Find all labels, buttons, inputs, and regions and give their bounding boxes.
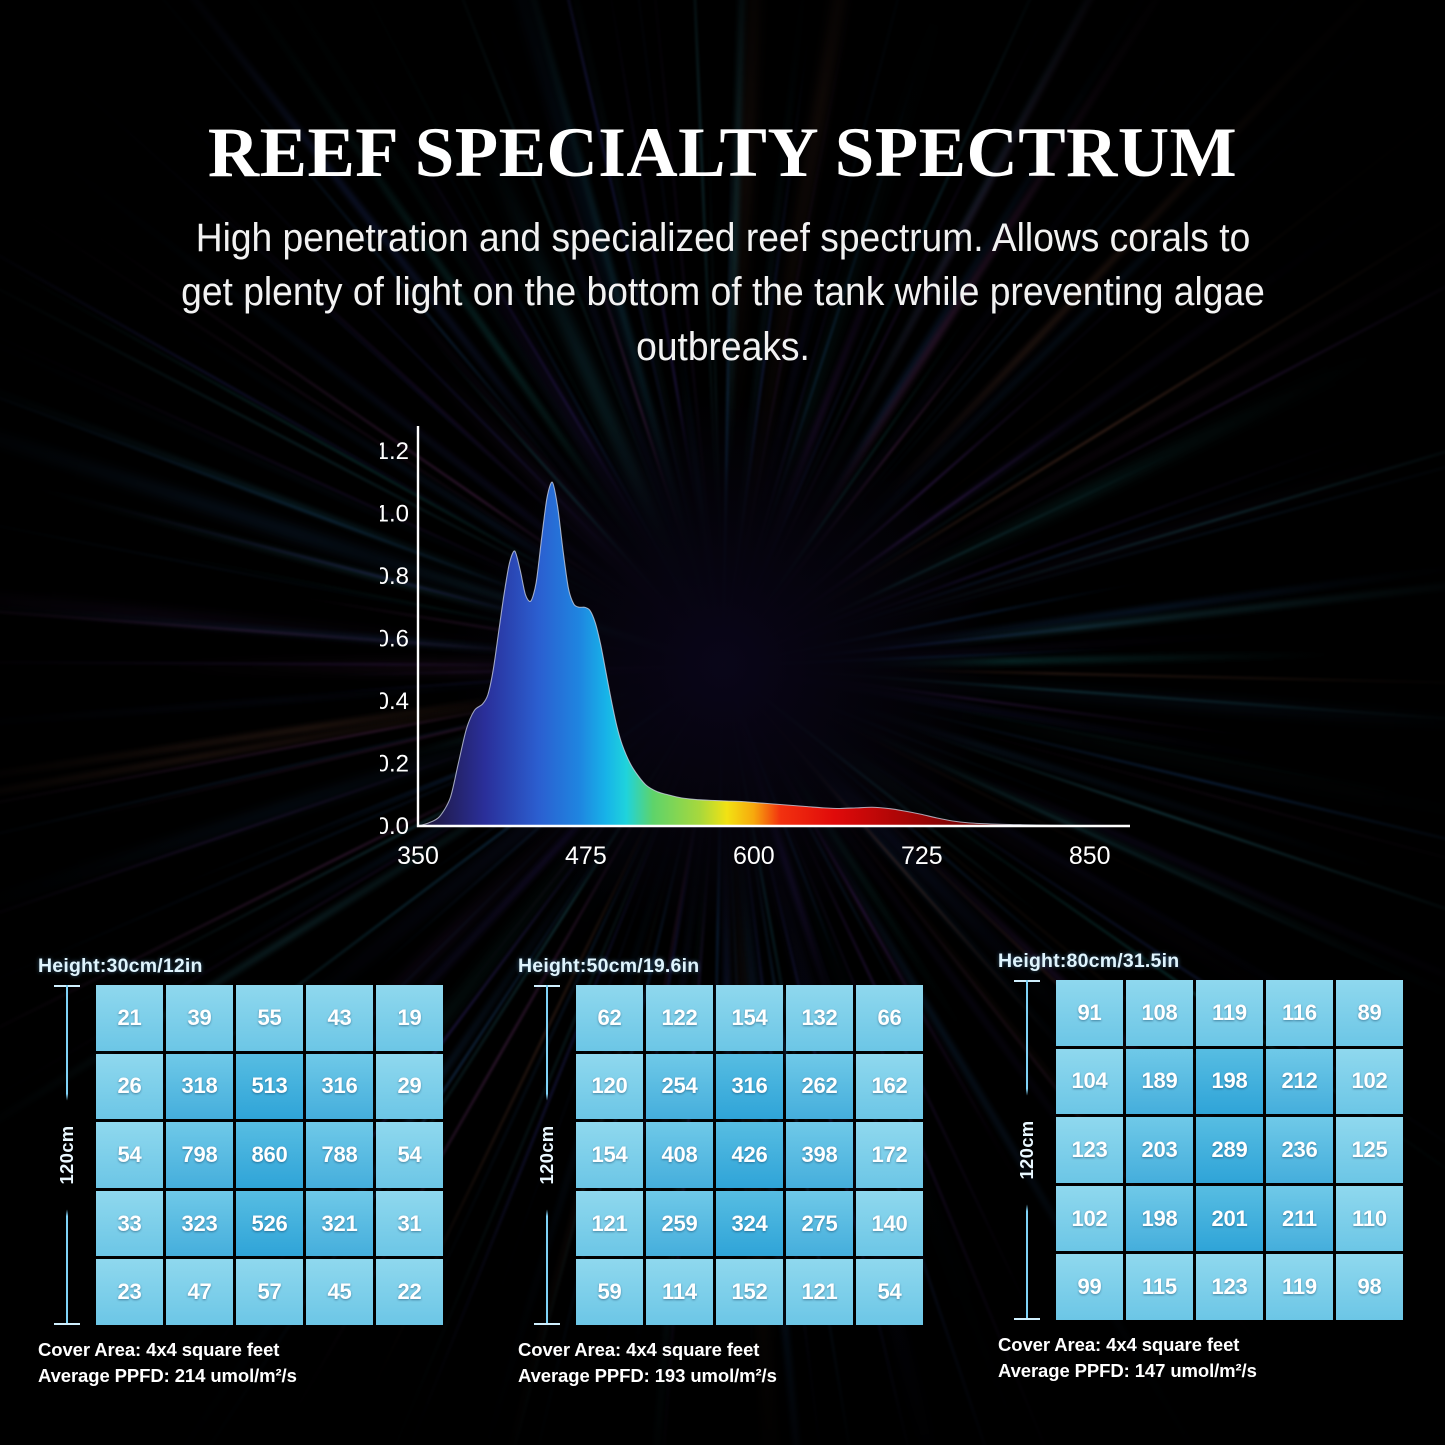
panel-height-label: Height:80cm/31.5in [998,950,1403,973]
ppfd-cell: 140 [856,1191,923,1257]
ppfd-cell: 316 [306,1054,373,1120]
ppfd-cell: 55 [236,985,303,1051]
spectrum-chart: 3504756007258500.00.20.40.60.81.01.2 [380,418,1140,883]
average-ppfd-text: Average PPFD: 147 umol/m²/s [998,1358,1403,1384]
ppfd-cell: 102 [1336,1049,1403,1115]
ppfd-cell: 31 [376,1191,443,1257]
ppfd-cell: 236 [1266,1117,1333,1183]
ppfd-cell: 172 [856,1122,923,1188]
ppfd-cell: 254 [646,1054,713,1120]
panel-body: 120cm21395543192631851331629547988607885… [38,985,443,1325]
dimension-label: 120cm [536,1125,558,1184]
ppfd-cell: 120 [576,1054,643,1120]
y-axis-tick-label: 0.8 [380,563,409,590]
ppfd-cell: 102 [1056,1186,1123,1252]
page-subtitle: High penetration and specialized reef sp… [178,211,1266,374]
ppfd-cell: 29 [376,1054,443,1120]
cover-area-text: Cover Area: 4x4 square feet [38,1337,443,1363]
ppfd-cell: 43 [306,985,373,1051]
ppfd-grid: 2139554319263185133162954798860788543332… [96,985,443,1325]
ppfd-cell: 212 [1266,1049,1333,1115]
ppfd-cell: 114 [646,1259,713,1325]
ppfd-cell: 33 [96,1191,163,1257]
ppfd-cell: 66 [856,985,923,1051]
ppfd-cell: 54 [96,1122,163,1188]
ppfd-cell: 110 [1336,1186,1403,1252]
ppfd-cell: 321 [306,1191,373,1257]
ppfd-cell: 275 [786,1191,853,1257]
x-axis-tick-label: 350 [397,842,439,870]
ppfd-cell: 119 [1266,1254,1333,1320]
ppfd-cell: 788 [306,1122,373,1188]
ppfd-cell: 125 [1336,1117,1403,1183]
ppfd-cell: 26 [96,1054,163,1120]
dimension-cap-bottom [54,1323,80,1325]
ppfd-cell: 121 [786,1259,853,1325]
ppfd-cell: 54 [376,1122,443,1188]
ppfd-grid: 9110811911689104189198212102123203289236… [1056,980,1403,1320]
panel-footer: Cover Area: 4x4 square feetAverage PPFD:… [998,1332,1403,1385]
ppfd-cell: 513 [236,1054,303,1120]
dimension-indicator: 120cm [998,980,1056,1320]
ppfd-cell: 162 [856,1054,923,1120]
ppfd-cell: 91 [1056,980,1123,1046]
ppfd-cell: 54 [856,1259,923,1325]
ppfd-cell: 316 [716,1054,783,1120]
ppfd-cell: 198 [1196,1049,1263,1115]
dimension-cap-bottom [534,1323,560,1325]
ppfd-cell: 324 [716,1191,783,1257]
panel-footer: Cover Area: 4x4 square feetAverage PPFD:… [518,1337,923,1390]
ppfd-cell: 289 [1196,1117,1263,1183]
ppfd-cell: 98 [1336,1254,1403,1320]
ppfd-cell: 47 [166,1259,233,1325]
ppfd-cell: 198 [1126,1186,1193,1252]
ppfd-cell: 132 [786,985,853,1051]
ppfd-cell: 426 [716,1122,783,1188]
ppfd-cell: 860 [236,1122,303,1188]
ppfd-panel: Height:80cm/31.5in120cm91108119116891041… [998,950,1403,1385]
ppfd-cell: 408 [646,1122,713,1188]
ppfd-cell: 57 [236,1259,303,1325]
plot-area [418,482,1130,826]
ppfd-cell: 259 [646,1191,713,1257]
ppfd-panel: Height:30cm/12in120cm2139554319263185133… [38,955,443,1390]
ppfd-cell: 62 [576,985,643,1051]
ppfd-cell: 108 [1126,980,1193,1046]
y-axis-tick-label: 1.0 [380,501,409,528]
ppfd-cell: 22 [376,1259,443,1325]
ppfd-cell: 59 [576,1259,643,1325]
x-axis-tick-label: 850 [1069,842,1111,870]
x-axis-tick-label: 600 [733,842,775,870]
ppfd-cell: 104 [1056,1049,1123,1115]
ppfd-cell: 154 [576,1122,643,1188]
cover-area-text: Cover Area: 4x4 square feet [998,1332,1403,1358]
panel-height-label: Height:50cm/19.6in [518,955,923,978]
ppfd-cell: 123 [1056,1117,1123,1183]
ppfd-cell: 201 [1196,1186,1263,1252]
dimension-indicator: 120cm [518,985,576,1325]
ppfd-cell: 89 [1336,980,1403,1046]
x-axis-tick-label: 475 [565,842,607,870]
x-axis-labels: 350475600725850 [397,842,1110,870]
y-axis-tick-label: 1.2 [380,438,409,465]
ppfd-cell: 23 [96,1259,163,1325]
ppfd-cell: 123 [1196,1254,1263,1320]
dimension-label: 120cm [1016,1120,1038,1179]
panel-footer: Cover Area: 4x4 square feetAverage PPFD:… [38,1337,443,1390]
ppfd-cell: 152 [716,1259,783,1325]
ppfd-cell: 154 [716,985,783,1051]
average-ppfd-text: Average PPFD: 214 umol/m²/s [38,1363,443,1389]
ppfd-cell: 99 [1056,1254,1123,1320]
ppfd-grid: 6212215413266120254316262162154408426398… [576,985,923,1325]
ppfd-cell: 189 [1126,1049,1193,1115]
ppfd-cell: 122 [646,985,713,1051]
spectrum-area [418,482,1130,826]
ppfd-cell: 45 [306,1259,373,1325]
y-axis-tick-label: 0.6 [380,626,409,653]
y-axis-tick-label: 0.2 [380,751,409,778]
ppfd-cell: 115 [1126,1254,1193,1320]
ppfd-cell: 116 [1266,980,1333,1046]
ppfd-cell: 526 [236,1191,303,1257]
dimension-cap-bottom [1014,1318,1040,1320]
ppfd-cell: 262 [786,1054,853,1120]
y-axis-tick-label: 0.4 [380,688,409,715]
dimension-indicator: 120cm [38,985,96,1325]
header: REEF SPECIALTY SPECTRUM High penetration… [0,0,1445,374]
panel-body: 120cm91108119116891041891982121021232032… [998,980,1403,1320]
average-ppfd-text: Average PPFD: 193 umol/m²/s [518,1363,923,1389]
ppfd-cell: 19 [376,985,443,1051]
ppfd-cell: 21 [96,985,163,1051]
y-axis-tick-label: 0.0 [380,813,409,840]
product-infographic: REEF SPECIALTY SPECTRUM High penetration… [0,0,1445,1445]
dimension-label: 120cm [56,1125,78,1184]
ppfd-panel: Height:50cm/19.6in120cm62122154132661202… [518,955,923,1390]
page-title: REEF SPECIALTY SPECTRUM [0,118,1445,189]
ppfd-cell: 211 [1266,1186,1333,1252]
ppfd-cell: 39 [166,985,233,1051]
panel-body: 120cm62122154132661202543162621621544084… [518,985,923,1325]
ppfd-cell: 318 [166,1054,233,1120]
y-axis-labels: 0.00.20.40.60.81.01.2 [380,438,409,840]
x-axis-tick-label: 725 [901,842,943,870]
ppfd-cell: 121 [576,1191,643,1257]
cover-area-text: Cover Area: 4x4 square feet [518,1337,923,1363]
ppfd-cell: 798 [166,1122,233,1188]
ppfd-cell: 119 [1196,980,1263,1046]
panel-height-label: Height:30cm/12in [38,955,443,978]
ppfd-cell: 398 [786,1122,853,1188]
spectral-power-distribution-plot: 3504756007258500.00.20.40.60.81.01.2 [380,418,1140,883]
ppfd-cell: 203 [1126,1117,1193,1183]
ppfd-cell: 323 [166,1191,233,1257]
